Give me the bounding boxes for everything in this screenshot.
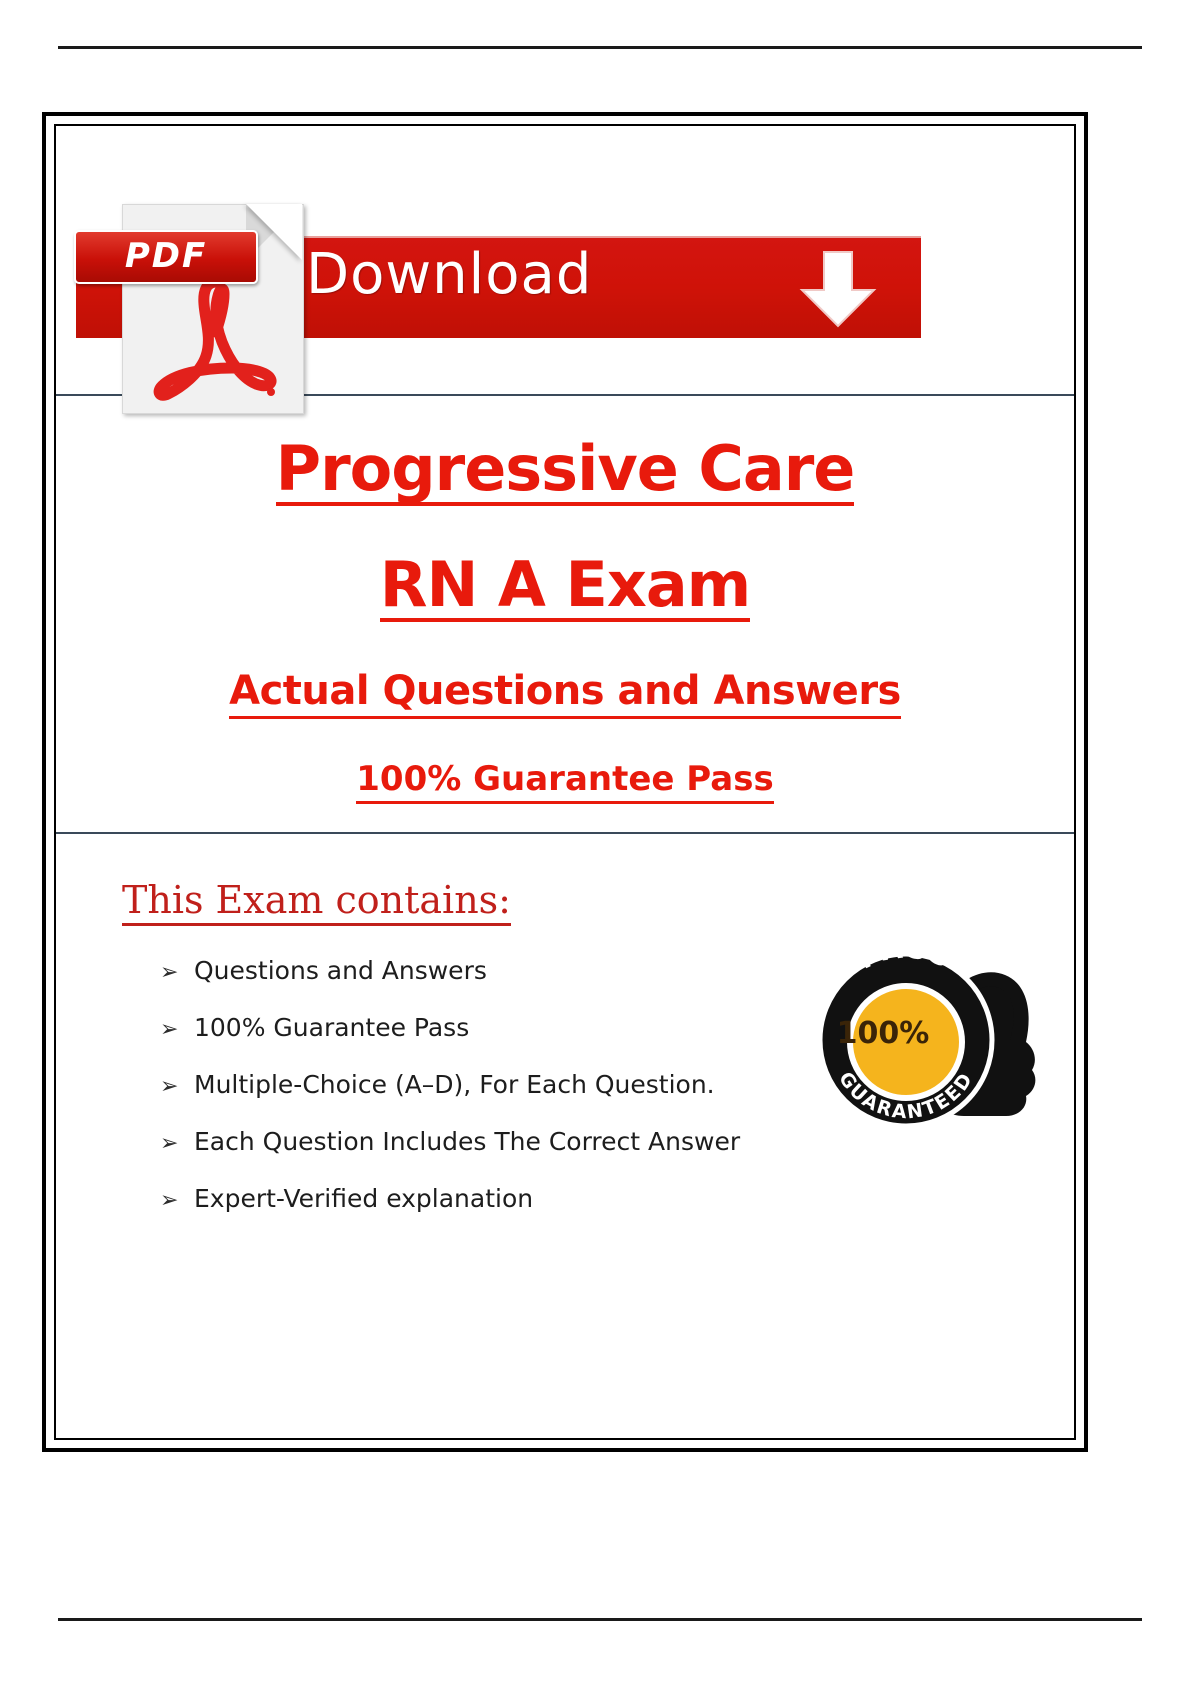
document-border-frame: Download [42,112,1088,1452]
contents-block: This Exam contains: ➢ Questions and Answ… [56,834,1074,1438]
exam-subtitle-questions: Actual Questions and Answers [56,668,1074,719]
page-rule-bottom [58,1618,1142,1621]
pdf-file-icon: PDF [122,204,302,412]
pdf-type-label: PDF [74,230,258,284]
exam-title-line-1: Progressive Care [56,438,1074,506]
arrow-bullet-icon: ➢ [160,1074,194,1099]
download-banner[interactable]: Download [56,126,1074,396]
list-item: ➢ Expert-Verified explanation [160,1184,1074,1213]
document-content: Download [56,126,1074,1438]
download-arrow-icon [796,250,880,328]
list-item-label: Expert-Verified explanation [194,1184,1074,1213]
download-label: Download [306,242,592,307]
badge-percent-label: 100% [798,1016,968,1051]
exam-title-line-2: RN A Exam [56,554,1074,622]
title-block: Progressive Care RN A Exam Actual Questi… [56,396,1074,834]
contents-heading: This Exam contains: [122,878,511,926]
page-rule-top [58,46,1142,49]
document-border-inner: Download [54,124,1076,1440]
arrow-bullet-icon: ➢ [160,1017,194,1042]
acrobat-logo-icon [146,276,278,404]
arrow-bullet-icon: ➢ [160,1131,194,1156]
exam-subtitle-guarantee: 100% Guarantee Pass [56,759,1074,804]
arrow-bullet-icon: ➢ [160,960,194,985]
pass-guaranteed-badge-icon: PASS GUARANTEED 100% [798,920,1048,1160]
arrow-bullet-icon: ➢ [160,1188,194,1213]
